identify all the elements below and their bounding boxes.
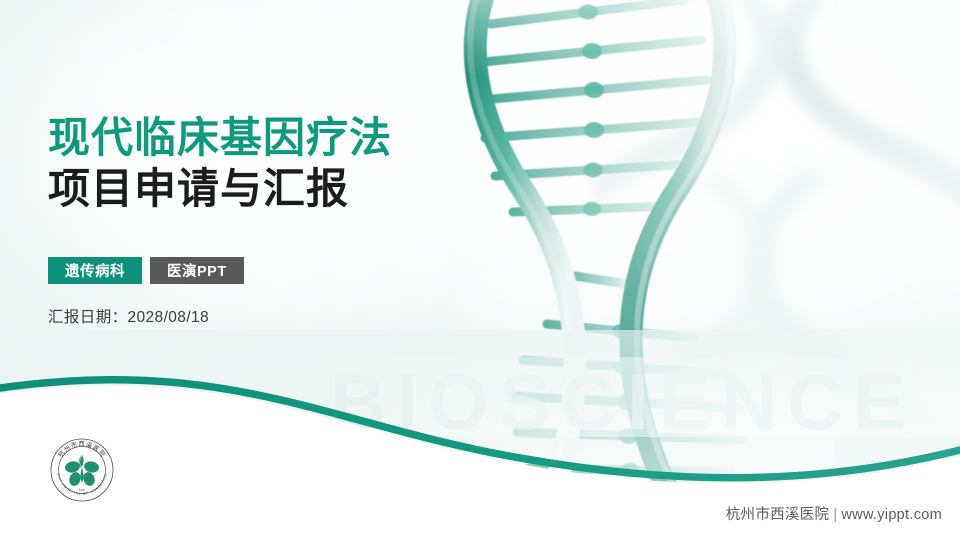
presentation-title-slide: BIOSCIENCE 现代临床基因疗法 项目申请与汇报 遗传病科 (0, 0, 960, 540)
hospital-logo: 杭州市西溪医院 XIXI HOSPITAL OF HANGZHOU 1997 (47, 435, 117, 505)
badge-department[interactable]: 遗传病科 (48, 257, 142, 284)
footer-organization: 杭州市西溪医院 (726, 507, 830, 523)
report-date: 汇报日期：2028/08/18 (48, 305, 209, 327)
badge-brand[interactable]: 医演PPT (150, 257, 244, 284)
logo-clover-mark (64, 455, 100, 487)
title-block: 现代临床基因疗法 项目申请与汇报 (48, 112, 392, 214)
page-title-line-2: 项目申请与汇报 (48, 163, 392, 214)
logo-year: 1997 (79, 488, 86, 492)
footer-url[interactable]: www.yippt.com (841, 507, 942, 523)
badge-group: 遗传病科 医演PPT (48, 257, 244, 284)
page-title-line-1: 现代临床基因疗法 (48, 112, 392, 163)
footer: 杭州市西溪医院|www.yippt.com (726, 503, 942, 524)
footer-separator: | (833, 507, 837, 523)
